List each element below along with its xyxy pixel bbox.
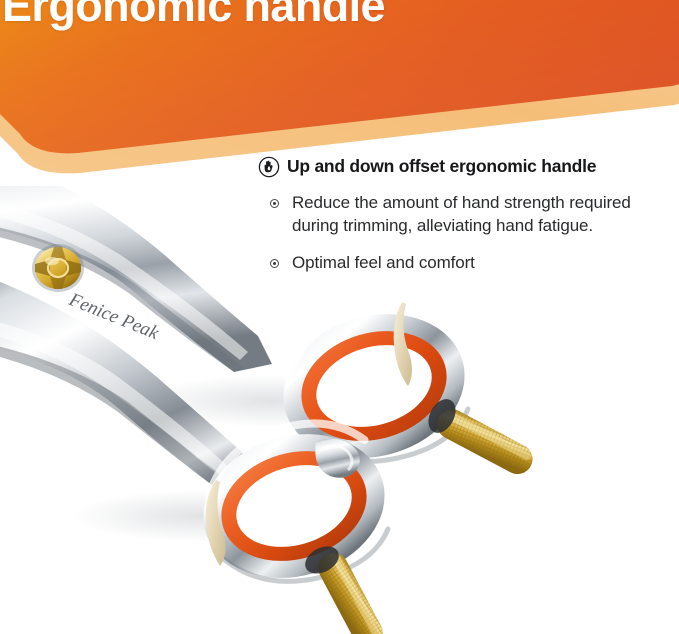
hand-down-arrow-icon xyxy=(258,156,280,178)
feature-heading: Up and down offset ergonomic handle xyxy=(287,156,596,177)
product-feature-image: Ergonomic handle Up and down offset ergo… xyxy=(0,0,679,634)
page-title: Ergonomic handle xyxy=(2,0,522,29)
pivot-screw xyxy=(32,244,84,292)
feature-heading-row: Up and down offset ergonomic handle xyxy=(258,156,670,178)
upper-gold-finger-rest xyxy=(423,394,538,479)
product-photo-scissors: Fenice Peak xyxy=(0,186,592,634)
